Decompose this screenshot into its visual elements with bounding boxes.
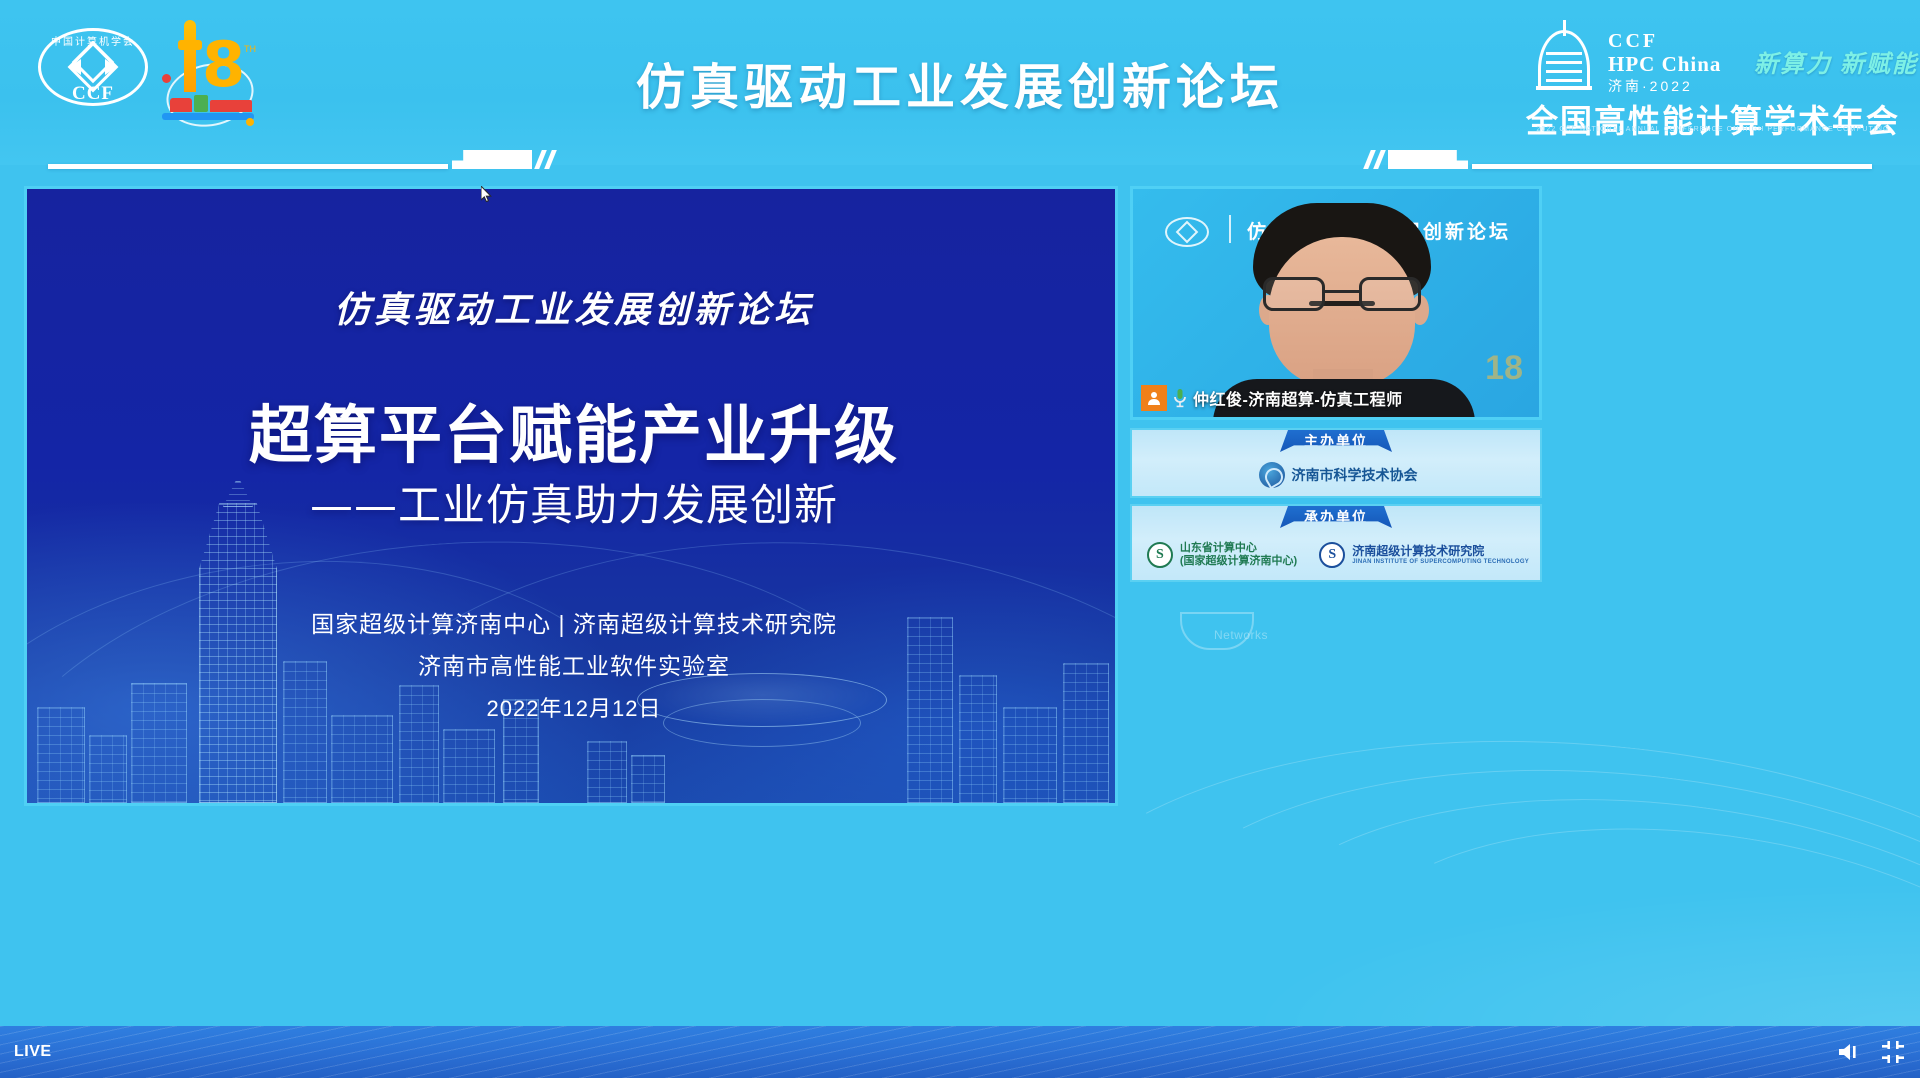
sponsor-name-en: JINAN INSTITUTE OF SUPERCOMPUTING TECHNO… [1352, 559, 1529, 566]
host-logo-row: 济南市科学技术协会 [1132, 454, 1542, 496]
hpc-china-logo: CCF HPC China 济南·2022 新算力 新赋能 新未来 全国高性能计… [1524, 14, 1902, 132]
slide-headline: 超算平台赋能产业升级 [27, 385, 1118, 476]
stream-viewer: 中国计算机学会 CCF 8 TH 仿真驱动工业发展创新论坛 [0, 0, 1920, 1078]
building [1063, 663, 1109, 803]
glasses-bridge [1325, 290, 1359, 293]
presentation-slide[interactable]: 仿真驱动工业发展创新论坛 超算平台赋能产业升级 ——工业仿真助力发展创新 国家超… [24, 186, 1118, 806]
divider-step-left [452, 150, 532, 169]
sponsor-text: 山东省计算中心 (国家超级计算济南中心) [1180, 542, 1297, 568]
host-ribbon-label: 主办单位 [1280, 430, 1392, 452]
co-organizer-ribbon-label: 承办单位 [1280, 506, 1392, 528]
hpc-location-label: 济南·2022 [1608, 76, 1693, 96]
divider-step-right [1388, 150, 1468, 169]
glasses-lens-right [1359, 277, 1421, 311]
sponsor-text: 济南市科学技术协会 [1292, 467, 1418, 484]
sponsor-name-cn: 济南超级计算技术研究院 [1352, 544, 1529, 558]
co-organizer-card: 承办单位 山东省计算中心 (国家超级计算济南中心) 济南超级计算技术研究院 JI… [1130, 504, 1542, 582]
building [283, 661, 327, 803]
hpc-english-subtitle: 2022 CCF NATIONAL ANNUAL CONFERENCE ON H… [1524, 126, 1902, 133]
hpc-bar-2 [1546, 61, 1582, 64]
kxxh-logo-icon [1259, 462, 1285, 488]
sponsor-name-cn: 济南市科学技术协会 [1292, 467, 1418, 484]
avatar-icon [1141, 385, 1167, 411]
divider-line-right [1472, 164, 1872, 169]
building [443, 729, 495, 803]
participant-name-badge: 仲红俊-济南超算-仿真工程师 [1141, 385, 1403, 411]
slide-canvas: 仿真驱动工业发展创新论坛 超算平台赋能产业升级 ——工业仿真助力发展创新 国家超… [27, 189, 1115, 803]
divider-line-left [48, 164, 448, 169]
hpc-ccf-label: CCF [1608, 30, 1658, 53]
hpc-bar-3 [1546, 70, 1582, 73]
hpc-building-icon [1528, 30, 1600, 92]
webcam-video-panel[interactable]: 仿真驱动工业发展创新论坛 18 [1130, 186, 1542, 420]
slide-date: 2022年12月12日 [27, 691, 1118, 723]
building [89, 735, 127, 803]
video-anniversary-badge: 18 [1485, 349, 1523, 388]
player-bottom-bar: LIVE [0, 1026, 1920, 1078]
sponsor-name-cn2: (国家超级计算济南中心) [1180, 555, 1297, 568]
mouse-cursor-icon [481, 186, 492, 202]
speaker-glasses-icon [1263, 277, 1421, 311]
hpc-dome [1538, 30, 1590, 86]
slide-organization: 国家超级计算济南中心 | 济南超级计算技术研究院 [27, 605, 1118, 639]
conference-header: 中国计算机学会 CCF 8 TH 仿真驱动工业发展创新论坛 [0, 0, 1920, 165]
host-organization-card: 主办单位 济南市科学技术协会 [1130, 428, 1542, 498]
jist-logo-icon [1319, 542, 1345, 568]
building [331, 715, 393, 803]
player-controls [1836, 1039, 1906, 1065]
sponsor-item: 山东省计算中心 (国家超级计算济南中心) [1147, 542, 1297, 568]
hpc-slogan: 新算力 新赋能 新未来 [1754, 44, 1920, 79]
sdjsz-logo-icon [1147, 542, 1173, 568]
hpc-chinese-title: 全国高性能计算学术年会 [1524, 96, 1902, 142]
video-ccf-icon [1165, 217, 1209, 247]
exit-fullscreen-icon[interactable] [1880, 1039, 1906, 1065]
hpc-bar-1 [1546, 52, 1582, 55]
co-organizer-logo-row: 山东省计算中心 (国家超级计算济南中心) 济南超级计算技术研究院 JINAN I… [1132, 530, 1542, 580]
building [587, 741, 627, 803]
anniversary-yellow-dot [246, 118, 254, 126]
volume-icon[interactable] [1836, 1039, 1862, 1065]
participant-name: 仲红俊-济南超算-仿真工程师 [1193, 386, 1403, 410]
glasses-lens-left [1263, 277, 1325, 311]
slide-subheadline: ——工业仿真助力发展创新 [27, 471, 1118, 533]
slide-lab: 济南市高性能工业软件实验室 [27, 647, 1118, 681]
slide-script-title: 仿真驱动工业发展创新论坛 [27, 281, 1118, 333]
microphone-icon[interactable] [1167, 388, 1193, 408]
hpc-base [1536, 86, 1592, 90]
sponsor-text: 济南超级计算技术研究院 JINAN INSTITUTE OF SUPERCOMP… [1352, 544, 1529, 565]
speaker-face [1269, 237, 1415, 387]
sponsor-name-cn: 山东省计算中心 [1180, 542, 1297, 555]
sidebar-panel: 仿真驱动工业发展创新论坛 18 [1130, 186, 1542, 806]
header-divider [0, 148, 1920, 182]
sponsor-item: 济南超级计算技术研究院 JINAN INSTITUTE OF SUPERCOMP… [1319, 542, 1529, 568]
sponsor-item: 济南市科学技术协会 [1259, 462, 1418, 488]
hpc-bar-4 [1546, 79, 1582, 82]
live-badge: LIVE [14, 1043, 52, 1061]
divider-slash-2 [544, 150, 557, 169]
networks-watermark: Networks [1214, 628, 1268, 642]
hpc-name-label: HPC China [1608, 52, 1721, 77]
divider-slash-3 [1373, 150, 1386, 169]
